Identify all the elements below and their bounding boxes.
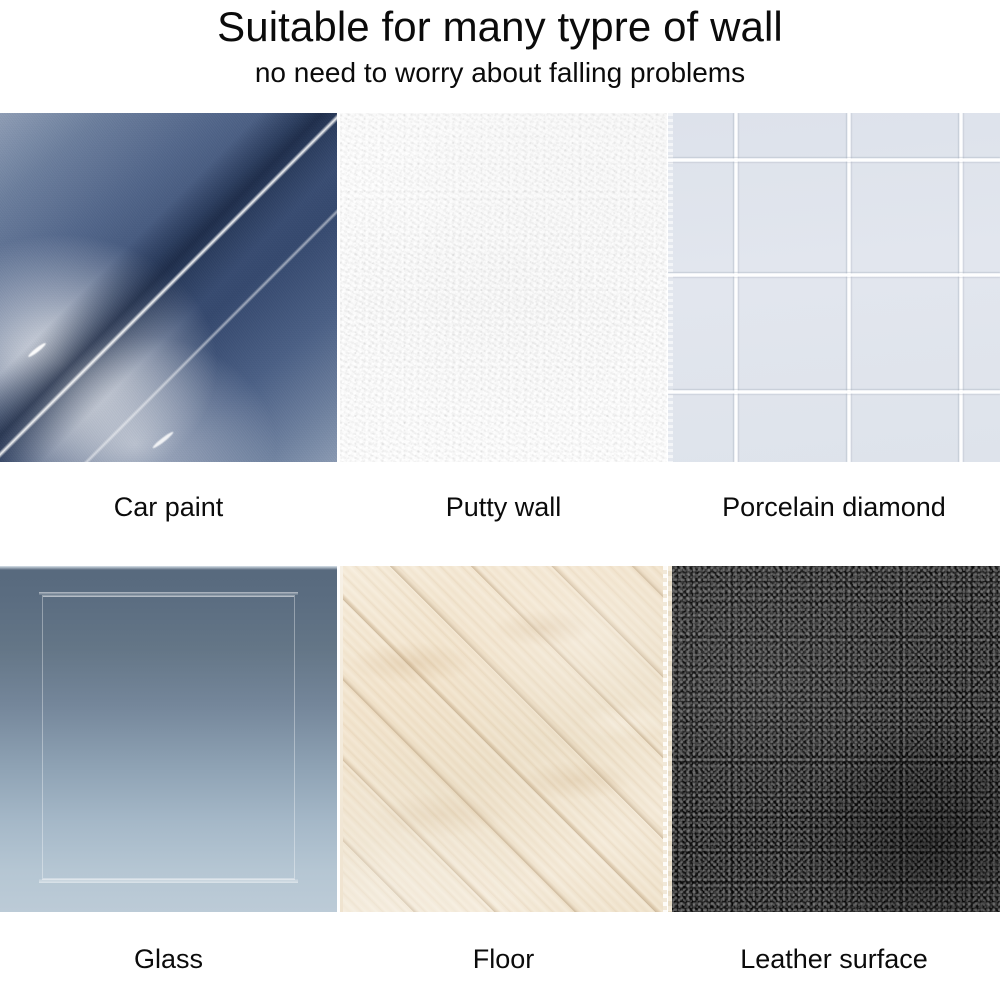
page-subtitle: no need to worry about falling problems xyxy=(0,55,1000,91)
header: Suitable for many typre of wall no need … xyxy=(0,0,1000,91)
tile-grout-line-vertical xyxy=(734,113,738,462)
product-feature-page: Suitable for many typre of wall no need … xyxy=(0,0,1000,1000)
surface-caption-leather: Leather surface xyxy=(668,943,1000,975)
leather-crease-overlay xyxy=(668,566,1000,912)
surface-cell-floor: Floor xyxy=(340,566,667,975)
putty-shading-overlay xyxy=(340,113,667,462)
page-title: Suitable for many typre of wall xyxy=(0,2,1000,52)
surface-cell-leather: Leather surface xyxy=(668,566,1000,975)
glass-inset-frame xyxy=(42,595,295,879)
surface-cell-glass: Glass xyxy=(0,566,337,975)
surface-cell-porcelain-diamond: Porcelain diamond xyxy=(668,113,1000,523)
tile-grout-line-horizontal xyxy=(668,158,1000,162)
tile-left-edge xyxy=(668,113,673,462)
tile-grout-line-vertical xyxy=(847,113,851,462)
surface-caption-putty-wall: Putty wall xyxy=(340,491,667,523)
surface-caption-floor: Floor xyxy=(340,943,667,975)
tile-grout-line-vertical xyxy=(959,113,963,462)
surface-gallery-row-1: Car paint Putty wall Porcelain diamond xyxy=(0,113,1000,523)
surface-cell-putty-wall: Putty wall xyxy=(340,113,667,523)
porcelain-tile-texture xyxy=(668,113,1000,462)
tile-grout-line-horizontal xyxy=(668,390,1000,394)
surface-caption-glass: Glass xyxy=(0,943,337,975)
glass-panel-texture xyxy=(0,566,337,912)
floor-right-edge xyxy=(663,566,667,912)
surface-gallery-row-2: Glass Floor Leather surface xyxy=(0,566,1000,975)
surface-caption-porcelain-diamond: Porcelain diamond xyxy=(668,491,1000,523)
floor-left-edge xyxy=(340,566,343,912)
floor-sheen-overlay xyxy=(340,566,667,912)
car-paint-texture xyxy=(0,113,337,462)
surface-cell-car-paint: Car paint xyxy=(0,113,337,523)
leather-left-edge xyxy=(668,566,672,912)
surface-caption-car-paint: Car paint xyxy=(0,491,337,523)
tile-grout-line-horizontal xyxy=(668,273,1000,277)
wood-floor-texture xyxy=(340,566,667,912)
paint-grain-overlay xyxy=(0,113,337,462)
putty-wall-texture xyxy=(340,113,667,462)
leather-grain-texture xyxy=(668,566,1000,912)
glass-top-reflection xyxy=(0,566,337,570)
